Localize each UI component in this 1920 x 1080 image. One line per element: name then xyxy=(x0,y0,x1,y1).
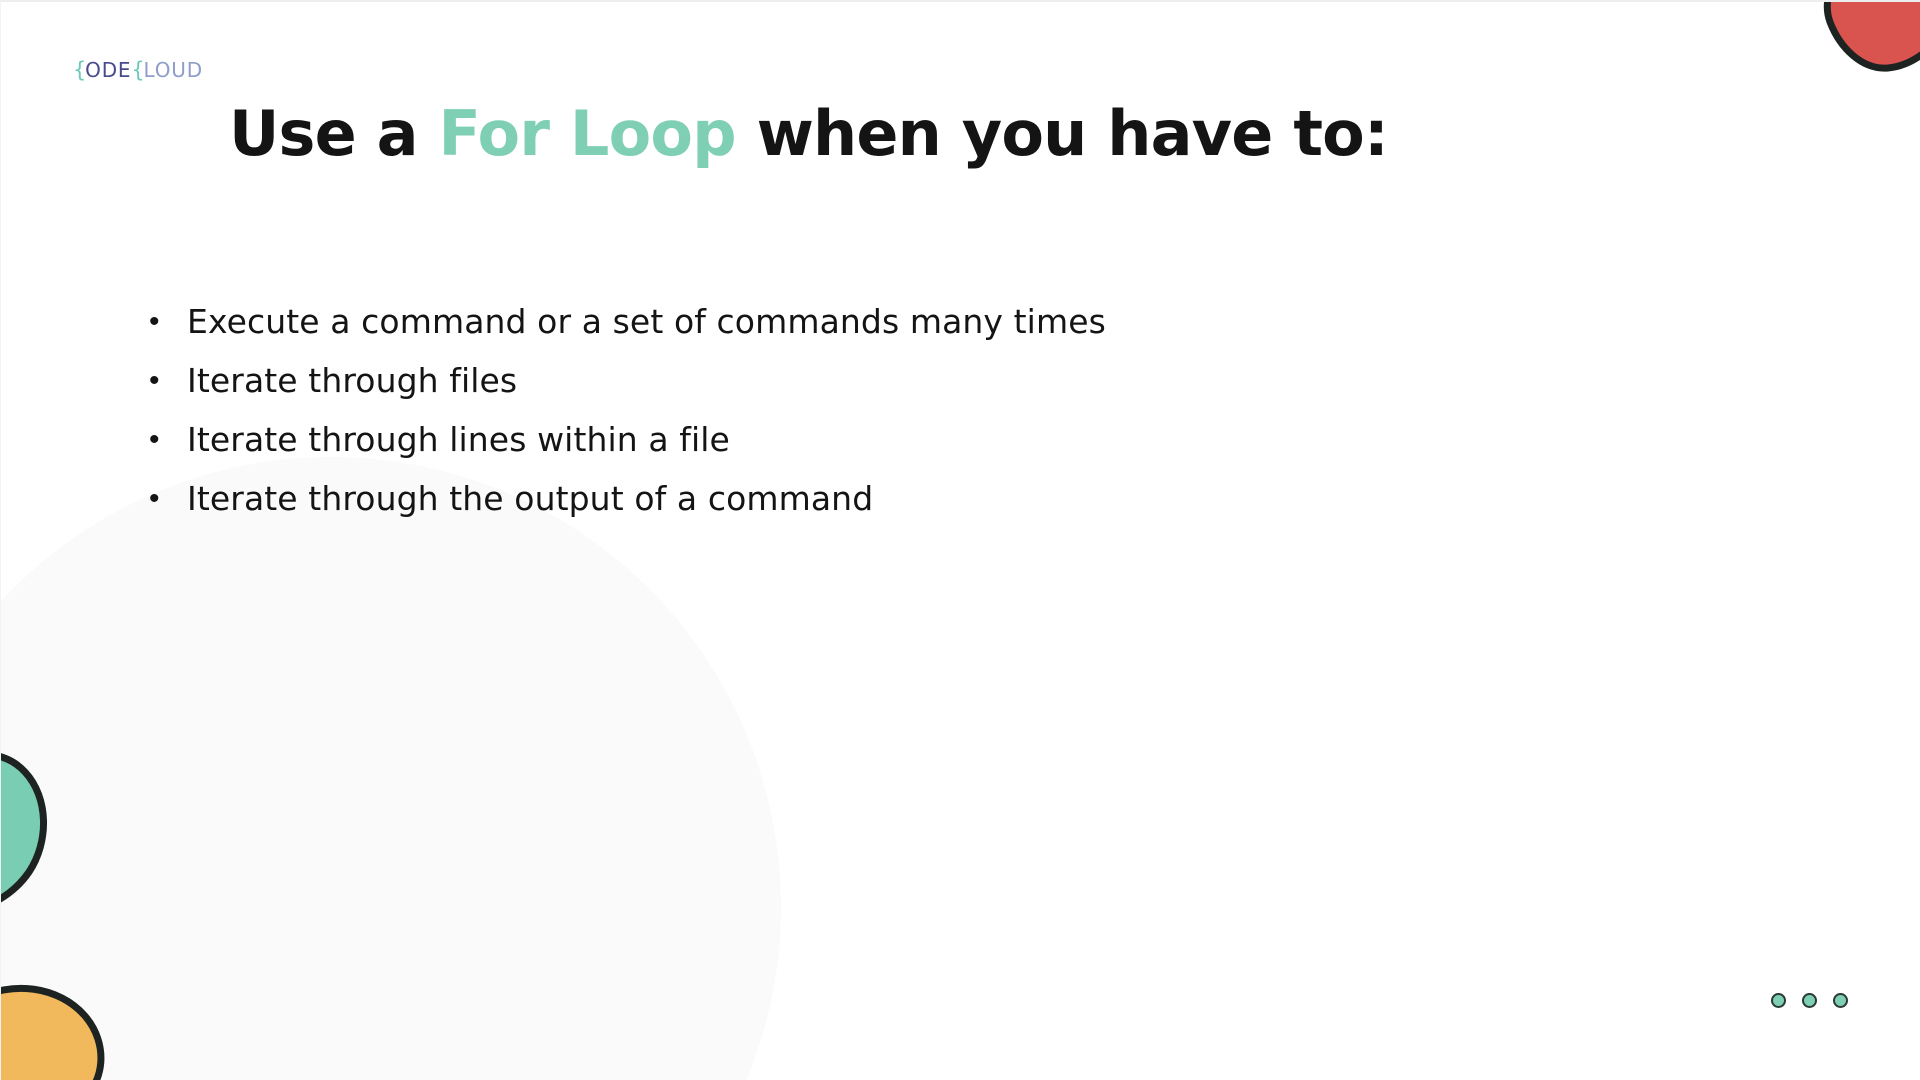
list-item-label: Execute a command or a set of commands m… xyxy=(187,300,1106,344)
bullet-marker-icon: • xyxy=(149,359,187,403)
ghost-circle-decoration xyxy=(0,457,781,1080)
logo-kloud-text: LOUD xyxy=(144,58,203,82)
kodekloud-logo[interactable]: {ODE{LOUD xyxy=(73,58,203,82)
title-suffix: when you have to: xyxy=(736,97,1388,170)
bullet-list: • Execute a command or a set of commands… xyxy=(149,300,1106,536)
orange-blob-decoration xyxy=(0,976,109,1080)
title-prefix: Use a xyxy=(229,97,439,170)
slide-canvas: {ODE{LOUD Use a For Loop when you have t… xyxy=(0,0,1920,1080)
page-title: Use a For Loop when you have to: xyxy=(229,98,1388,169)
list-item: • Iterate through files xyxy=(149,359,1106,403)
page-dot-2-icon[interactable] xyxy=(1802,993,1817,1008)
list-item: • Iterate through the output of a comman… xyxy=(149,477,1106,521)
red-blob-decoration xyxy=(1818,0,1920,76)
page-indicator-dots[interactable] xyxy=(1771,993,1848,1008)
list-item: • Execute a command or a set of commands… xyxy=(149,300,1106,344)
list-item-label: Iterate through lines within a file xyxy=(187,418,730,462)
list-item: • Iterate through lines within a file xyxy=(149,418,1106,462)
list-item-label: Iterate through the output of a command xyxy=(187,477,873,521)
bullet-marker-icon: • xyxy=(149,418,187,462)
page-dot-1-icon[interactable] xyxy=(1771,993,1786,1008)
list-item-label: Iterate through files xyxy=(187,359,517,403)
logo-kode-text: ODE xyxy=(85,58,131,82)
title-highlight: For Loop xyxy=(439,97,736,170)
bullet-marker-icon: • xyxy=(149,477,187,521)
page-dot-3-icon[interactable] xyxy=(1833,993,1848,1008)
teal-blob-decoration xyxy=(0,746,63,914)
bullet-marker-icon: • xyxy=(149,300,187,344)
